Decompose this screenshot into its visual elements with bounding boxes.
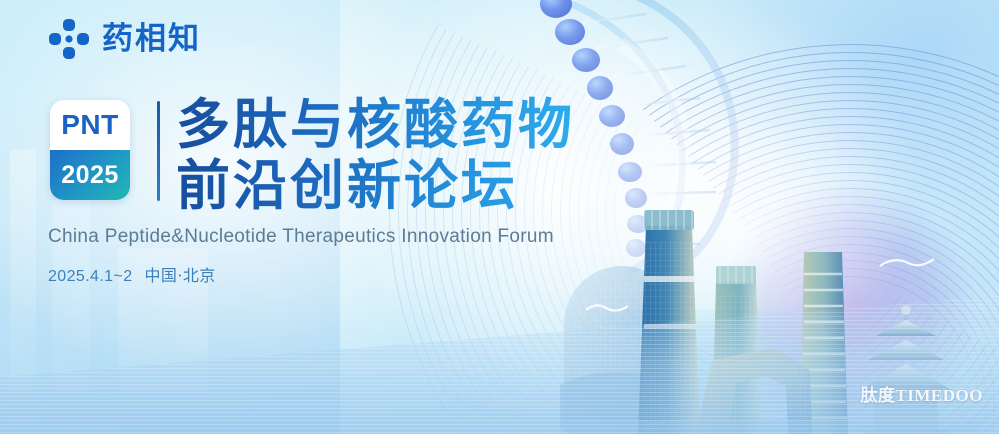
badge-year-text: 2025	[61, 163, 119, 188]
badge-year: 2025	[50, 150, 130, 200]
conference-banner: 药相知 PNT 2025 多肽与核酸药物 前沿创新论坛 China Peptid…	[0, 0, 999, 434]
brand-logo-text: 药相知	[102, 24, 201, 55]
event-title-line-1: 多肽与核酸药物	[176, 94, 575, 155]
event-location: 中国·北京	[145, 262, 216, 286]
event-date: 2025.4.1~2	[48, 268, 133, 286]
event-meta: 2025.4.1~2 中国·北京	[48, 262, 216, 286]
badge-acronym-text: PNT	[61, 111, 119, 139]
watermark: 肽度TIMEDOO	[860, 381, 983, 406]
event-title: 多肽与核酸药物 前沿创新论坛	[176, 94, 575, 216]
four-petal-cross-mark	[48, 18, 90, 60]
title-divider	[157, 101, 160, 201]
badge-acronym: PNT	[50, 100, 130, 150]
pnt-year-badge: PNT 2025	[50, 100, 130, 200]
event-subtitle-en: China Peptide&Nucleotide Therapeutics In…	[48, 226, 554, 248]
brand-logo[interactable]: 药相知	[48, 18, 201, 60]
event-title-line-2: 前沿创新论坛	[176, 155, 575, 216]
